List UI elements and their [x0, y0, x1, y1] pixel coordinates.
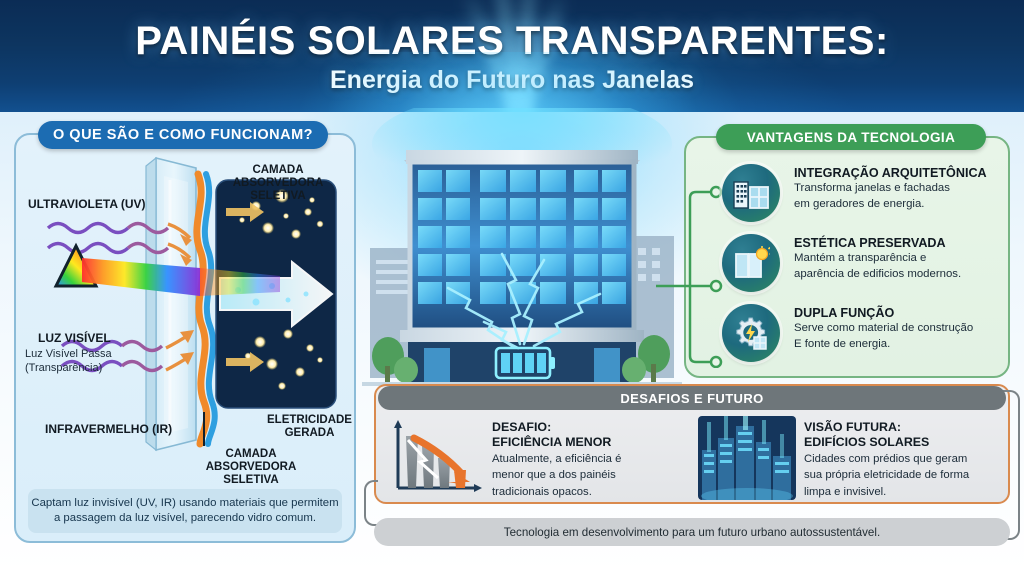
challenge-desc-line-3: tradicionais opacos. [492, 485, 621, 500]
label-absorbing-layer-bottom: CAMADA ABSORVEDORA SELETIVA [186, 448, 316, 487]
advantage-desc-line-2: em geradores de energia. [794, 197, 1006, 212]
label-visible-light: LUZ VISÍVEL [38, 332, 111, 345]
advantage-desc-line-2: E fonte de energia. [794, 337, 1006, 352]
advantage-text: ESTÉTICA PRESERVADA Mantém a transparênc… [794, 236, 1006, 282]
label-electricity-generated: ELETRICIDADE GERADA [262, 414, 357, 440]
challenge-item-efficiency[interactable]: DESAFIO: EFICIÊNCIA MENOR Atualmente, a … [386, 416, 692, 500]
infographic-root: PAINÉIS SOLARES TRANSPARENTES: Energia d… [0, 0, 1024, 572]
label-visible-light-sub: Luz Visível Passa (Transparência) [25, 347, 175, 376]
challenge-text: DESAFIO: EFICIÊNCIA MENOR Atualmente, a … [492, 416, 621, 500]
advantage-item-aesthetics[interactable]: ESTÉTICA PRESERVADA Mantém a transparênc… [722, 234, 1004, 296]
advantage-title: DUPLA FUNÇÃO [794, 306, 1006, 320]
how-it-works-badge: O QUE SÃO E COMO FUNCIONAM? [38, 121, 328, 149]
challenge-title-line-1: VISÃO FUTURA: [804, 420, 969, 435]
label-absorbing-layer-top: CAMADA ABSORVEDORA SELETIVA [218, 164, 338, 203]
challenge-desc-line-2: menor que a dos painéis [492, 468, 621, 483]
challenge-title-line-2: EFICIÊNCIA MENOR [492, 435, 621, 450]
challenge-title-line-1: DESAFIO: [492, 420, 621, 435]
advantage-title: ESTÉTICA PRESERVADA [794, 236, 1006, 250]
advantage-text: DUPLA FUNÇÃO Serve como material de cons… [794, 306, 1006, 352]
advantage-item-dual-function[interactable]: DUPLA FUNÇÃO Serve como material de cons… [722, 304, 1004, 366]
glowing-city-skyline-icon [698, 416, 796, 500]
challenge-desc-line-1: Cidades com prédios que geram [804, 452, 969, 467]
advantage-desc-line-2: aparência de edificios modernos. [794, 267, 1006, 282]
challenges-badge: DESAFIOS E FUTURO [378, 386, 1006, 410]
gear-bolt-window-icon [722, 304, 780, 362]
advantage-desc-line-1: Mantém a transparência e [794, 251, 1006, 266]
advantage-item-architectural[interactable]: INTEGRAÇÃO ARQUITETÔNICA Transforma jane… [722, 164, 1004, 226]
building-illustration [362, 108, 682, 398]
challenge-desc-line-2: sua própria eletricidade de forma [804, 468, 969, 483]
advantages-badge: VANTAGENS DA TECNOLOGIA [716, 124, 986, 150]
left-bracket [364, 480, 378, 526]
advantage-title: INTEGRAÇÃO ARQUITETÔNICA [794, 166, 1006, 180]
how-it-works-caption: Captam luz invisível (UV, IR) usando mat… [28, 489, 342, 533]
footer-note: Tecnologia em desenvolvimento para um fu… [374, 518, 1010, 546]
declining-bar-chart-icon [386, 416, 484, 500]
label-ultraviolet: ULTRAVIOLETA (UV) [28, 198, 146, 211]
challenge-title-line-2: EDIFÍCIOS SOLARES [804, 435, 969, 450]
challenge-item-future-vision[interactable]: VISÃO FUTURA: EDIFÍCIOS SOLARES Cidades … [698, 416, 1004, 500]
caption-line-1: Captam luz invisível (UV, IR) usando mat… [31, 496, 338, 511]
advantage-desc-line-1: Serve como material de construção [794, 321, 1006, 336]
challenge-desc-line-3: limpa e invisivel. [804, 485, 969, 500]
window-sun-icon [722, 234, 780, 292]
label-infrared: INFRAVERMELHO (IR) [45, 423, 172, 436]
caption-line-2: a passagem da luz visível, parecendo vid… [54, 511, 316, 526]
right-bracket [1002, 390, 1020, 540]
building-windows-icon [722, 164, 780, 222]
advantage-text: INTEGRAÇÃO ARQUITETÔNICA Transforma jane… [794, 166, 1006, 212]
challenge-text: VISÃO FUTURA: EDIFÍCIOS SOLARES Cidades … [804, 416, 969, 500]
challenge-desc-line-1: Atualmente, a eficiência é [492, 452, 621, 467]
advantage-desc-line-1: Transforma janelas e fachadas [794, 181, 1006, 196]
